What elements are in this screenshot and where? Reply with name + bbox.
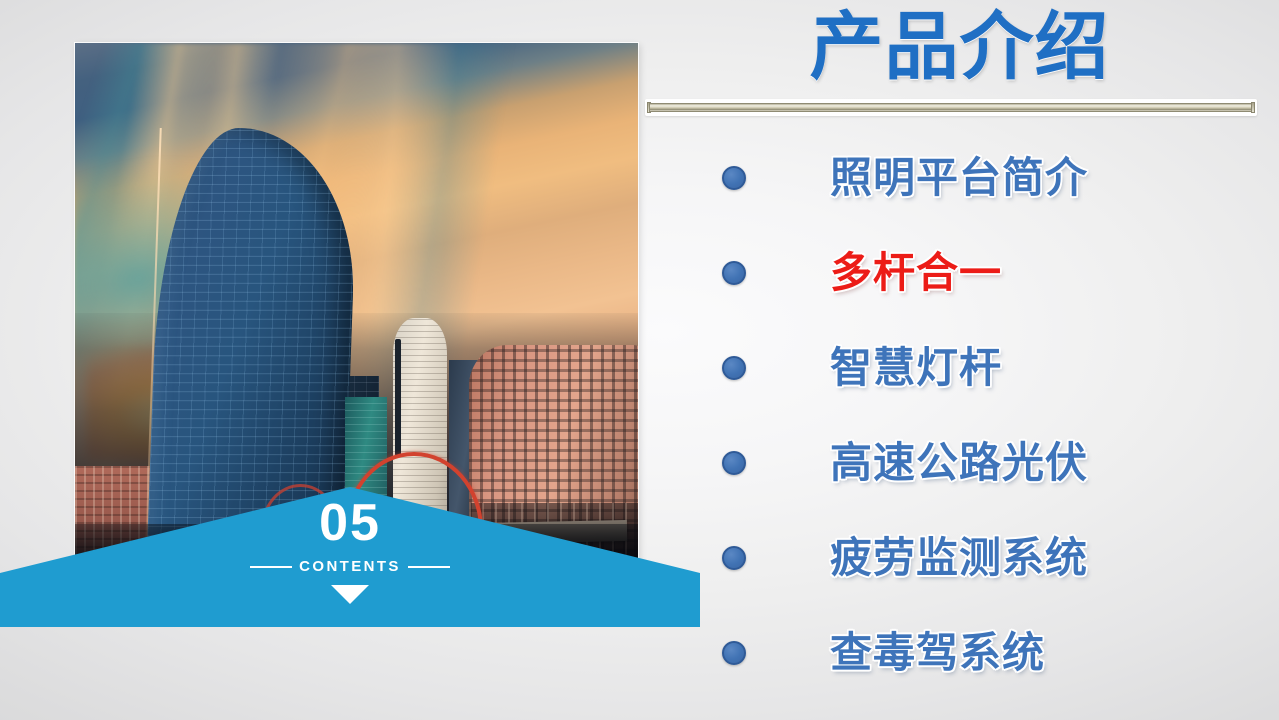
- title-divider: [645, 99, 1257, 116]
- list-item[interactable]: 智慧灯杆: [700, 320, 1270, 415]
- foreground-shadow: [75, 524, 638, 572]
- list-item[interactable]: 多杆合一: [700, 225, 1270, 320]
- divider-bar: [649, 103, 1253, 112]
- list-item[interactable]: 照明平台简介: [700, 130, 1270, 225]
- caret-down-icon: [331, 585, 369, 604]
- list-item[interactable]: 高速公路光伏: [700, 415, 1270, 510]
- list-item[interactable]: 疲劳监测系统: [700, 510, 1270, 605]
- agenda-bullet-list: 照明平台简介 多杆合一 智慧灯杆 高速公路光伏 疲劳监测系统 查毒驾系统: [700, 130, 1270, 700]
- circle-bullet-icon: [722, 641, 746, 665]
- white-tower-window-slit: [395, 339, 401, 455]
- list-item-label: 查毒驾系统: [830, 632, 1045, 674]
- list-item-label: 疲劳监测系统: [830, 537, 1088, 579]
- list-item-label: 多杆合一: [830, 252, 1002, 294]
- list-item-label: 高速公路光伏: [830, 442, 1088, 484]
- circle-bullet-icon: [722, 356, 746, 380]
- circle-bullet-icon: [722, 546, 746, 570]
- city-skyline-sunset-photo: [75, 43, 638, 572]
- list-item-label: 照明平台简介: [830, 157, 1088, 199]
- circle-bullet-icon: [722, 166, 746, 190]
- list-item-label: 智慧灯杆: [830, 347, 1002, 389]
- page-title: 产品介绍: [640, 6, 1279, 89]
- circle-bullet-icon: [722, 451, 746, 475]
- presentation-slide: 05 CONTENTS 产品介绍 照明平台简介 多杆合一 智慧灯杆: [0, 0, 1279, 720]
- divider-cap-right: [1251, 102, 1255, 113]
- circle-bullet-icon: [722, 261, 746, 285]
- list-item[interactable]: 查毒驾系统: [700, 605, 1270, 700]
